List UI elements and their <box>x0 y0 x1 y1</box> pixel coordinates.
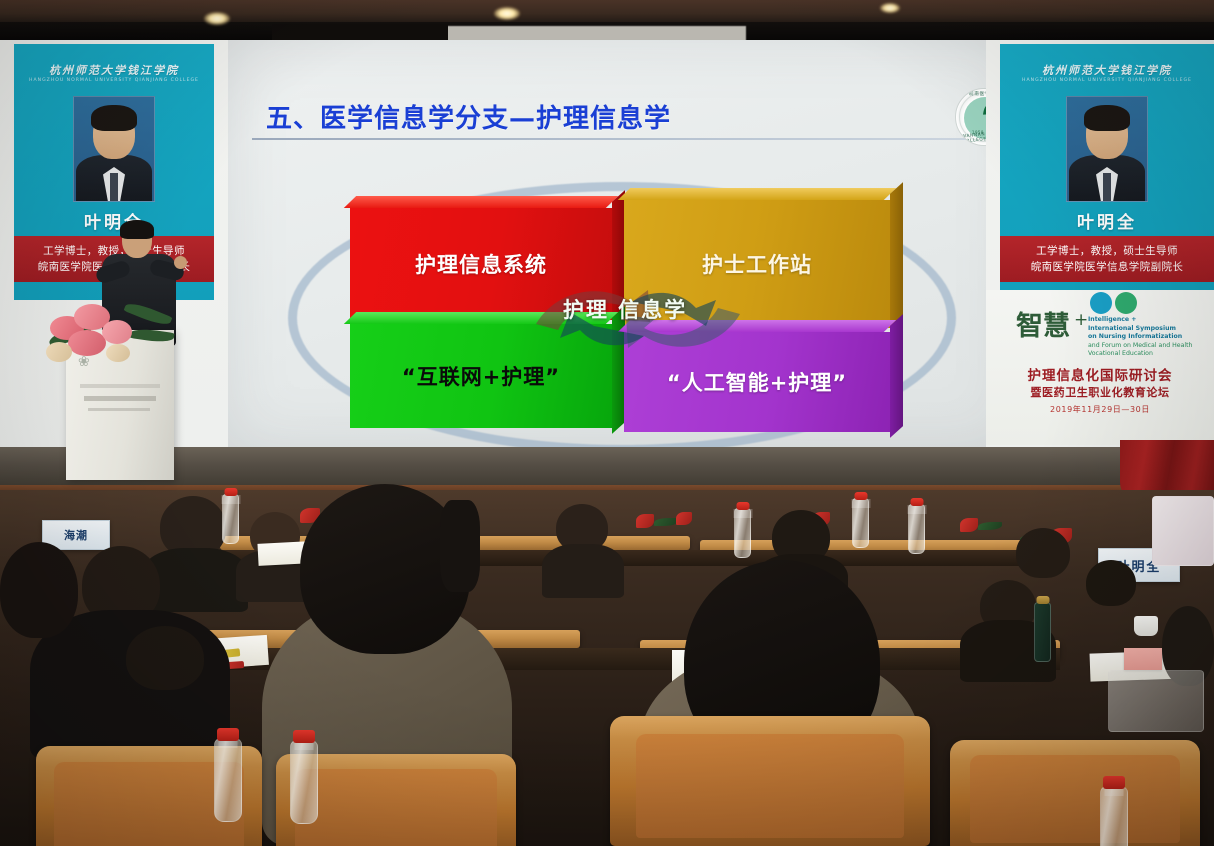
university-name-en: HANGZHOU NORMAL UNIVERSITY QIANJIANG COL… <box>1000 78 1214 83</box>
quadrant-ai-plus-nursing: “人工智能+护理” <box>624 332 890 432</box>
conference-hall-photo: 五、医学信息学分支—护理信息学 皖南医学院 ∿ 1958 WANNAN MEDI… <box>0 0 1214 846</box>
water-bottle <box>734 508 751 558</box>
water-bottle <box>222 494 239 544</box>
conference-date: 2019年11月29日—30日 <box>986 404 1214 415</box>
quadrant-label: “人工智能+护理” <box>624 332 890 432</box>
podium-flower-arrangement <box>46 300 176 372</box>
quadrant-internet-plus-nursing: “互联网+护理” <box>350 324 612 428</box>
brand-en-line-4: and Forum on Medical and Health <box>1088 342 1208 351</box>
placard-name: 海潮 <box>64 527 88 543</box>
paper-cup <box>1134 616 1158 636</box>
water-bottle <box>852 498 869 548</box>
audience-person <box>1086 560 1136 606</box>
speaker-credentials-bar: 工学博士，教授，硕士生导师 皖南医学院医学信息学院副院长 <box>1000 236 1214 282</box>
credentials-line-1: 工学博士，教授，硕士生导师 <box>1036 243 1178 259</box>
conference-brand-plus: + <box>1074 310 1088 330</box>
brand-en-line-5: Vocational Education <box>1088 350 1208 359</box>
audience-person <box>126 626 204 690</box>
pink-label <box>1124 648 1162 670</box>
credentials-line-2: 皖南医学院医学信息学院副院长 <box>1031 259 1184 275</box>
slide-title: 五、医学信息学分支—护理信息学 <box>266 98 671 135</box>
ceiling-spotlight <box>880 3 900 13</box>
audience-chair <box>950 740 1200 846</box>
university-name-zh: 杭州师范大学钱江学院 <box>1000 62 1214 78</box>
block-side-face <box>890 314 903 438</box>
speaker-portrait <box>73 96 155 202</box>
water-bottle <box>1100 786 1128 846</box>
conference-brand-zh: 智慧 <box>1016 304 1070 343</box>
speaker-portrait <box>1066 96 1148 202</box>
nursing-informatics-diagram: 护理信息系统 护士工作站 “互联网+护理” “人工智能+护理” <box>350 208 890 428</box>
thermos-flask <box>1034 602 1051 662</box>
conference-brand-en: Intelligence + International Symposium o… <box>1088 316 1208 359</box>
audience-person <box>1016 528 1070 578</box>
title-underline <box>252 138 994 140</box>
audience-person-torso <box>542 544 624 598</box>
conference-title-line-1: 护理信息化国际研讨会 <box>986 364 1214 384</box>
foreground-person-arm <box>440 500 480 592</box>
tote-bag <box>1108 670 1204 732</box>
water-bottle <box>908 504 925 554</box>
brand-en-line-2: International Symposium <box>1088 325 1208 334</box>
water-bottle <box>214 738 242 822</box>
tote-bag <box>1152 496 1214 566</box>
university-name-zh: 杭州师范大学钱江学院 <box>14 62 214 78</box>
brand-en-line-1: Intelligence + <box>1088 316 1208 325</box>
ceiling-spotlight <box>494 7 520 20</box>
speaker-name: 叶明全 <box>1000 208 1214 233</box>
block-top-face <box>618 188 896 200</box>
block-side-face <box>890 182 903 334</box>
ceiling-spotlight <box>204 12 230 25</box>
quadrant-label: “互联网+护理” <box>350 324 612 428</box>
diagram-center-label: 护理 信息学 <box>490 294 760 324</box>
speaker-panel-right: 杭州师范大学钱江学院 HANGZHOU NORMAL UNIVERSITY QI… <box>986 40 1214 447</box>
conference-emblem-icon <box>1090 292 1140 314</box>
block-top-face <box>344 196 618 208</box>
audience-area: 海潮 叶明全 <box>0 490 1214 846</box>
audience-chair <box>610 716 930 846</box>
audience-person <box>0 542 78 638</box>
brand-en-line-3: on Nursing Informatization <box>1088 333 1208 342</box>
conference-title-line-2: 暨医药卫生职业化教育论坛 <box>986 384 1214 400</box>
conference-branding: 智慧 + Intelligence + International Sympos… <box>986 290 1214 445</box>
water-bottle <box>290 740 318 824</box>
university-name-en: HANGZHOU NORMAL UNIVERSITY QIANJIANG COL… <box>14 78 214 83</box>
